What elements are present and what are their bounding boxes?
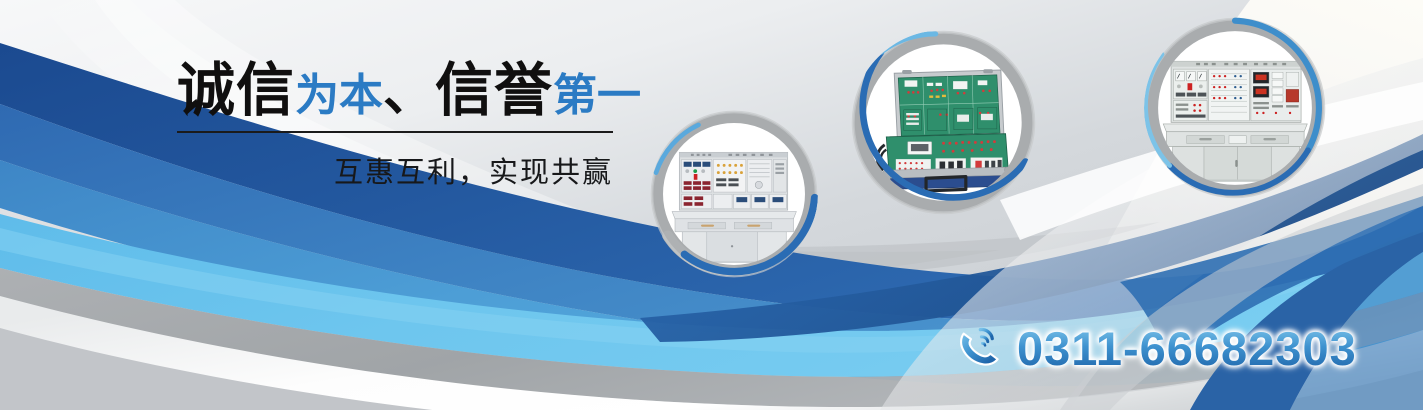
promo-banner: 诚信为本、信誉第一 互惠互利，实现共赢	[0, 0, 1423, 410]
headline-comma: 、	[383, 64, 435, 122]
headline-part-1: 诚信	[177, 58, 295, 123]
product-circle-1[interactable]	[650, 110, 818, 278]
headline-block: 诚信为本、信誉第一 互惠互利，实现共赢	[177, 62, 617, 191]
phone-call-icon	[952, 322, 1004, 374]
contact-block[interactable]: 0311-66682303	[952, 322, 1357, 374]
product-circle-3[interactable]	[1144, 17, 1326, 199]
product-image-workbench-2	[1157, 30, 1314, 187]
product-circle-2[interactable]	[851, 30, 1036, 215]
headline-divider	[177, 131, 613, 133]
headline-part-2: 为本	[295, 71, 383, 120]
headline: 诚信为本、信誉第一	[177, 62, 617, 120]
product-image-workbench-1	[662, 122, 806, 266]
headline-part-4: 信誉	[435, 58, 553, 123]
product-image-training-case	[864, 43, 1023, 202]
subtitle: 互惠互利，实现共赢	[177, 149, 613, 191]
phone-number[interactable]: 0311-66682303	[1017, 325, 1357, 372]
headline-part-5: 第一	[553, 71, 641, 120]
